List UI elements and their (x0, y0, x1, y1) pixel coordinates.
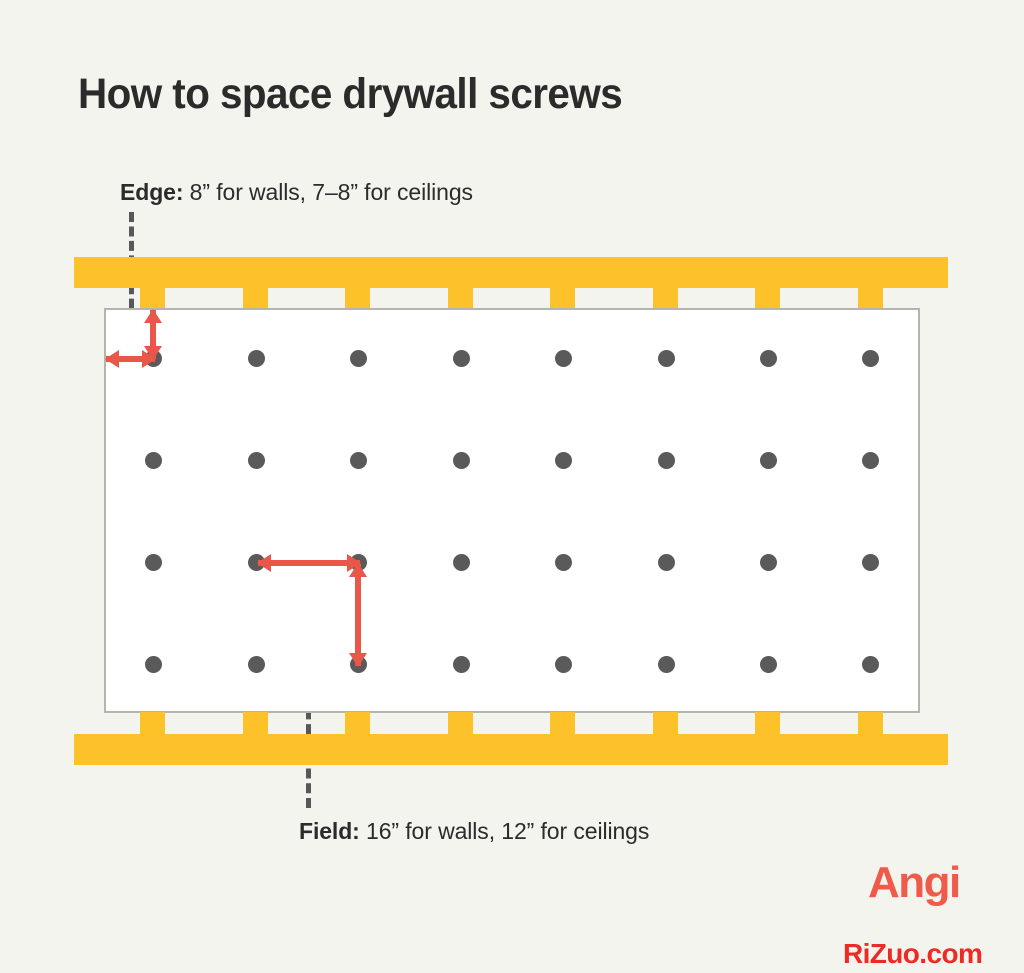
framing-stud (858, 712, 883, 734)
framing-bottom-rail (74, 734, 948, 765)
infographic-canvas: How to space drywall screws Edge: 8” for… (0, 0, 1024, 973)
screw-dot (453, 554, 470, 571)
framing-top-rail (74, 257, 948, 288)
screw-dot (862, 350, 879, 367)
edge-callout: Edge: 8” for walls, 7–8” for ceilings (120, 179, 473, 206)
rizuo-watermark: RiZuo.com (843, 938, 982, 970)
screw-dot (350, 452, 367, 469)
drywall-panel (104, 308, 920, 713)
edge-spacing-vertical-arrow (144, 310, 162, 359)
page-title: How to space drywall screws (78, 70, 622, 119)
arrow-shaft (258, 560, 360, 566)
screw-dot (862, 656, 879, 673)
arrow-head-left (105, 350, 119, 368)
framing-stud (858, 288, 883, 310)
arrow-head-down (349, 653, 367, 667)
screw-dot (862, 554, 879, 571)
screw-dot (555, 554, 572, 571)
field-callout-detail: 16” for walls, 12” for ceilings (360, 818, 650, 844)
edge-callout-detail: 8” for walls, 7–8” for ceilings (183, 179, 473, 205)
screw-dot (453, 656, 470, 673)
framing-stud (448, 288, 473, 310)
field-spacing-horizontal-arrow (258, 554, 360, 572)
screw-dot (760, 554, 777, 571)
arrow-head-up (144, 309, 162, 323)
screw-dot (658, 350, 675, 367)
framing-stud (755, 712, 780, 734)
arrow-shaft (355, 564, 361, 666)
framing-stud (140, 288, 165, 310)
framing-stud (653, 288, 678, 310)
screw-dot (555, 452, 572, 469)
screw-dot (658, 554, 675, 571)
framing-stud (550, 288, 575, 310)
framing-stud (345, 712, 370, 734)
screw-dot (145, 656, 162, 673)
framing-stud (653, 712, 678, 734)
field-spacing-vertical-arrow (349, 564, 367, 666)
screw-dot (248, 656, 265, 673)
screw-dot (862, 452, 879, 469)
screw-dot (145, 554, 162, 571)
screw-dot (453, 452, 470, 469)
screw-dot (350, 350, 367, 367)
screw-dot (658, 452, 675, 469)
framing-stud (243, 288, 268, 310)
screw-dot (555, 656, 572, 673)
arrow-head-up (349, 563, 367, 577)
angi-logo: Angi (868, 858, 960, 908)
framing-stud (243, 712, 268, 734)
screw-dot (248, 350, 265, 367)
screw-dot (760, 656, 777, 673)
framing-stud (755, 288, 780, 310)
field-callout: Field: 16” for walls, 12” for ceilings (299, 818, 649, 845)
screw-dot (555, 350, 572, 367)
screw-dot (760, 452, 777, 469)
screw-dot (248, 452, 265, 469)
framing-stud (345, 288, 370, 310)
field-callout-lead: Field: (299, 818, 360, 844)
arrow-head-down (144, 346, 162, 360)
framing-stud (140, 712, 165, 734)
screw-dot (760, 350, 777, 367)
framing-stud (550, 712, 575, 734)
edge-callout-lead: Edge: (120, 179, 183, 205)
framing-stud (448, 712, 473, 734)
screw-dot (453, 350, 470, 367)
screw-dot (658, 656, 675, 673)
arrow-head-left (257, 554, 271, 572)
screw-dot (145, 452, 162, 469)
